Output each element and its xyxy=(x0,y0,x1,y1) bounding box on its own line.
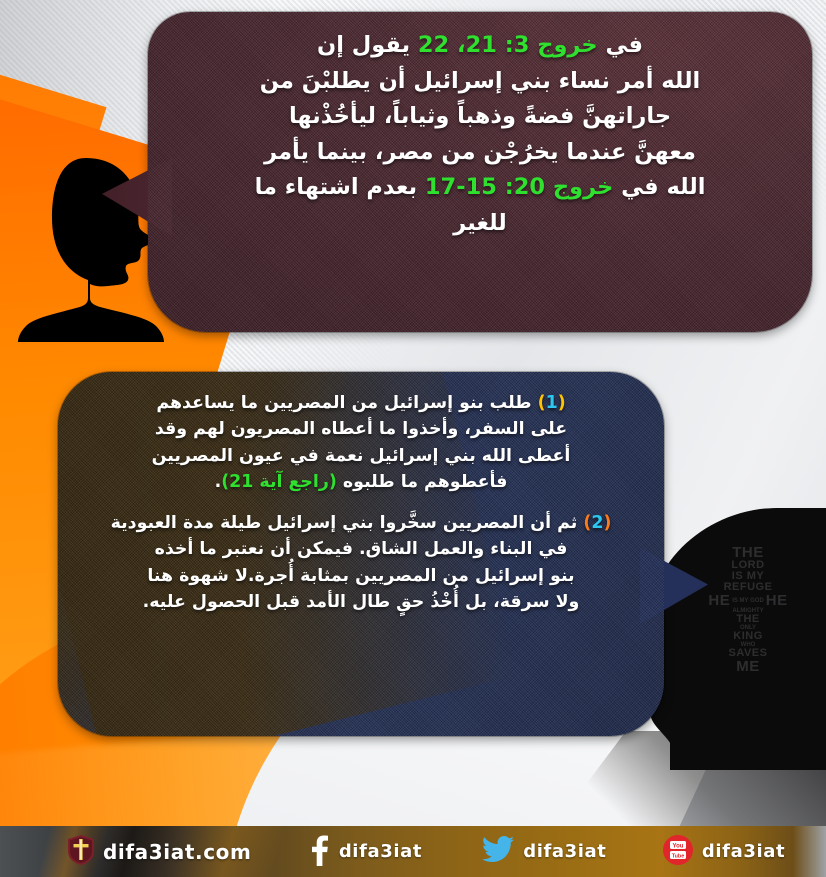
question-line: الله أمر نساء بني إسرائيل أن يطلبْنَ من xyxy=(182,64,778,100)
text-run: جاراتهنَّ فضةً وذهباً وثياباً، ليأخُذْنه… xyxy=(289,103,671,129)
text-run: بنو إسرائيل من المصريين بمثابة أُجرة.لا … xyxy=(147,566,574,586)
marker-number: 1 xyxy=(546,393,558,413)
marker-number: 2 xyxy=(591,513,603,533)
question-line: معهنَّ عندما يخرُجْن من مصر، بينما يأمر xyxy=(182,135,778,171)
answer-paragraph: (1) طلب بنو إسرائيل من المصريين ما يساعد… xyxy=(88,390,634,496)
list-marker: (2) xyxy=(583,513,611,533)
text-run: بعدم اشتهاء ما xyxy=(255,174,425,200)
answer-paragraph: (2) ثم أن المصريين سخَّروا بني إسرائيل ط… xyxy=(88,510,634,616)
answer-line: في البناء والعمل الشاق. فيمكن أن نعتبر م… xyxy=(88,536,634,562)
infographic-canvas: THE LORD IS MY REFUGE HE IS MY GOD HE AL… xyxy=(0,0,826,877)
svg-text:You: You xyxy=(672,843,683,849)
answer-line: (1) طلب بنو إسرائيل من المصريين ما يساعد… xyxy=(88,390,634,416)
question-line: في خروج 3: 21، 22 يقول إن xyxy=(182,28,778,64)
answer-line: على السفر، وأخذوا ما أعطاه المصريون لهم … xyxy=(88,416,634,442)
footer-label-twitter: difa3iat xyxy=(523,841,606,862)
answer-bubble-text: (1) طلب بنو إسرائيل من المصريين ما يساعد… xyxy=(58,372,664,628)
footer-item-twitter[interactable]: difa3iat xyxy=(474,826,657,877)
text-run: فأعطوهم ما طلبوه xyxy=(337,472,508,492)
text-run: يقول إن xyxy=(317,32,418,58)
footer-item-youtube[interactable]: You Tube difa3iat xyxy=(657,826,826,877)
svg-text:Tube: Tube xyxy=(672,853,684,859)
text-run: للغير xyxy=(453,210,507,236)
footer-label-youtube: difa3iat xyxy=(702,841,785,862)
footer-label-facebook: difa3iat xyxy=(339,841,422,862)
question-bubble: في خروج 3: 21، 22 يقول إنالله أمر نساء ب… xyxy=(148,12,812,332)
text-run: معهنَّ عندما يخرُجْن من مصر، بينما يأمر xyxy=(264,139,696,165)
facebook-icon xyxy=(308,834,330,870)
answer-line: بنو إسرائيل من المصريين بمثابة أُجرة.لا … xyxy=(88,563,634,589)
scripture-reference: خروج 20: 15-17 xyxy=(425,174,613,200)
text-run: في البناء والعمل الشاق. فيمكن أن نعتبر م… xyxy=(155,539,568,559)
text-run: في xyxy=(598,32,643,58)
marker-open-paren: ( xyxy=(603,513,611,533)
list-marker: (1) xyxy=(538,393,566,413)
question-line: الله في خروج 20: 15-17 بعدم اشتهاء ما xyxy=(182,170,778,206)
answer-line: ولا سرقة، بل أُخْذُ حقٍ طال الأمد قبل ال… xyxy=(88,589,634,615)
shield-cross-icon xyxy=(68,835,94,869)
scripture-reference: خروج 3: 21، 22 xyxy=(418,32,598,58)
question-line: للغير xyxy=(182,206,778,242)
answer-line: أعطى الله بني إسرائيل نعمة في عيون المصر… xyxy=(88,443,634,469)
marker-close-paren: ) xyxy=(538,393,546,413)
footer-item-facebook[interactable]: difa3iat xyxy=(284,826,474,877)
marker-open-paren: ( xyxy=(558,393,566,413)
footer-item-site[interactable]: difa3iat.com xyxy=(0,826,284,877)
text-run: الله أمر نساء بني إسرائيل أن يطلبْنَ من xyxy=(260,68,701,94)
question-bubble-text: في خروج 3: 21، 22 يقول إنالله أمر نساء ب… xyxy=(148,12,812,251)
text-run: على السفر، وأخذوا ما أعطاه المصريون لهم … xyxy=(155,419,567,439)
twitter-bird-icon xyxy=(482,836,514,868)
answer-line: (2) ثم أن المصريين سخَّروا بني إسرائيل ط… xyxy=(88,510,634,536)
scripture-reference: (راجع آية 21) xyxy=(221,472,337,492)
text-run: ولا سرقة، بل أُخْذُ حقٍ طال الأمد قبل ال… xyxy=(143,592,580,612)
answer-line: فأعطوهم ما طلبوه (راجع آية 21). xyxy=(88,469,634,495)
answer-bubble: (1) طلب بنو إسرائيل من المصريين ما يساعد… xyxy=(58,372,664,736)
text-run: الله في xyxy=(613,174,705,200)
text-run: ثم أن المصريين سخَّروا بني إسرائيل طيلة … xyxy=(111,513,584,533)
footer-bar: difa3iat.com difa3iat difa3iat xyxy=(0,826,826,877)
youtube-icon: You Tube xyxy=(663,835,693,869)
text-run: طلب بنو إسرائيل من المصريين ما يساعدهم xyxy=(156,393,537,413)
question-line: جاراتهنَّ فضةً وذهباً وثياباً، ليأخُذْنه… xyxy=(182,99,778,135)
footer-label-site: difa3iat.com xyxy=(103,840,251,864)
text-run: أعطى الله بني إسرائيل نعمة في عيون المصر… xyxy=(152,446,571,466)
